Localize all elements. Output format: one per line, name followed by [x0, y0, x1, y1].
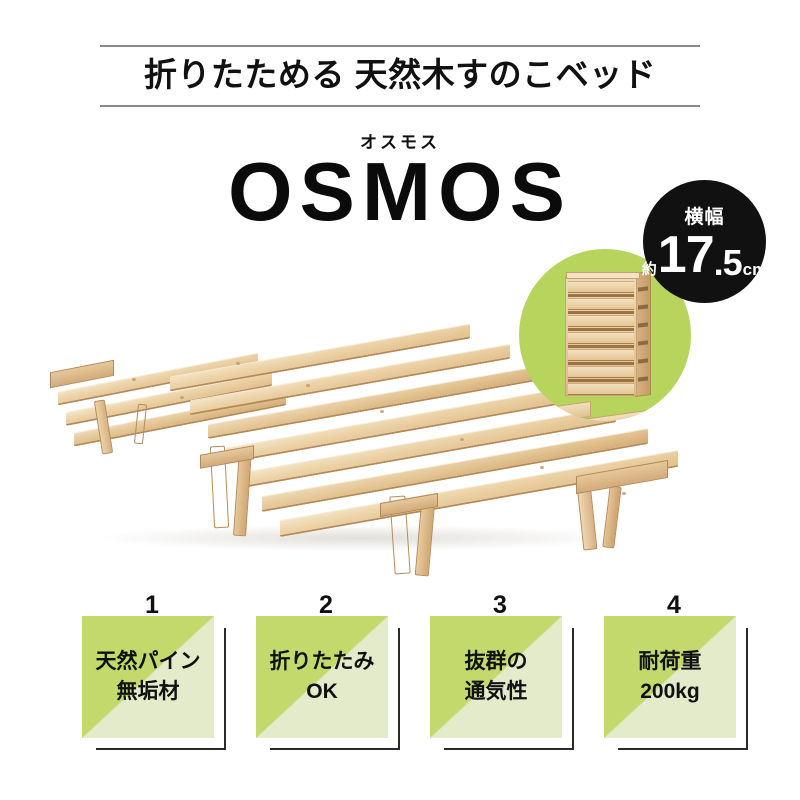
feature-text: 抜群の 通気性: [430, 616, 562, 738]
feature-line-1: 天然パイン: [96, 647, 201, 677]
feature-number: 2: [256, 592, 396, 618]
header-rule-bottom: [100, 105, 700, 107]
folded-bed-front-panel: [565, 276, 637, 396]
folded-bed-slat: [568, 383, 634, 395]
width-badge-decimal: .5: [714, 245, 742, 281]
bed-screw: [460, 438, 464, 441]
feature-line-1: 抜群の: [465, 647, 528, 677]
bed-shadow: [100, 525, 620, 551]
folded-bed-side-slot: [638, 286, 648, 291]
page-headline: 折りたためる 天然木すのこベッド: [0, 52, 800, 98]
feature-text: 耐荷重 200kg: [604, 616, 736, 738]
header-rule-top: [100, 45, 700, 47]
feature-line-1: 折りたたみ: [270, 647, 375, 677]
width-badge-approx: 約: [642, 262, 657, 281]
feature-number: 4: [604, 592, 744, 618]
feature-number: 3: [430, 592, 570, 618]
feature-list: 1 天然パイン 無垢材 2 折りたたみ OK 3: [0, 592, 800, 772]
feature-box: 抜群の 通気性: [430, 616, 562, 738]
width-badge-integer: 17: [658, 229, 714, 281]
folded-bed-gap: [568, 379, 634, 382]
bed-screw: [236, 362, 240, 365]
folded-bed-slat: [568, 349, 634, 361]
folded-bed-top-cap: [566, 272, 640, 279]
folded-bed-side-slot: [638, 376, 648, 381]
folded-bed-side-panel: [635, 271, 651, 397]
feature-line-1: 耐荷重: [639, 647, 702, 677]
feature-line-2: 無垢材: [117, 677, 180, 707]
feature-box: 折りたたみ OK: [256, 616, 388, 738]
feature-text: 天然パイン 無垢材: [82, 616, 214, 738]
bed-screw: [540, 466, 544, 469]
folded-bed-gap: [568, 345, 634, 348]
width-badge-value: 約 17 .5 cm: [643, 229, 766, 281]
bed-screw: [132, 378, 136, 381]
feature-item-3: 3 抜群の 通気性: [430, 592, 570, 752]
product-image-canvas: 折りたためる 天然木すのこベッド オスモス OSMOS: [0, 0, 800, 800]
folded-bed-side-slot: [638, 340, 648, 345]
folded-bed-side-slot: [638, 304, 648, 309]
folded-bed-slat: [568, 366, 634, 378]
feature-box: 耐荷重 200kg: [604, 616, 736, 738]
bed-screw: [180, 396, 184, 399]
folded-bed-slat: [568, 281, 634, 293]
feature-text: 折りたたみ OK: [256, 616, 388, 738]
folded-bed-slat: [568, 315, 634, 327]
bed-screw: [622, 492, 626, 495]
folded-bed-slat: [568, 332, 634, 344]
folded-bed-gap: [568, 328, 634, 331]
width-badge: 横幅 約 17 .5 cm: [643, 180, 766, 303]
feature-item-1: 1 天然パイン 無垢材: [82, 592, 222, 752]
bed-screw: [306, 384, 310, 387]
feature-item-2: 2 折りたたみ OK: [256, 592, 396, 752]
feature-line-2: OK: [306, 677, 338, 707]
folded-bed-side-slot: [638, 322, 648, 327]
feature-box: 天然パイン 無垢材: [82, 616, 214, 738]
feature-line-2: 通気性: [465, 677, 528, 707]
width-badge-label: 横幅: [643, 202, 766, 229]
folded-bed-gap: [568, 294, 634, 297]
feature-item-4: 4 耐荷重 200kg: [604, 592, 744, 752]
bed-screw: [380, 410, 384, 413]
bed-leg: [233, 450, 252, 537]
folded-bed-gap: [568, 362, 634, 365]
folded-bed-slat: [568, 298, 634, 310]
width-badge-unit: cm: [743, 261, 768, 281]
folded-bed-illustration: [565, 276, 651, 396]
feature-line-2: 200kg: [640, 677, 700, 707]
feature-number: 1: [82, 592, 222, 618]
folded-bed-side-slot: [638, 358, 648, 363]
folded-bed-gap: [568, 311, 634, 314]
